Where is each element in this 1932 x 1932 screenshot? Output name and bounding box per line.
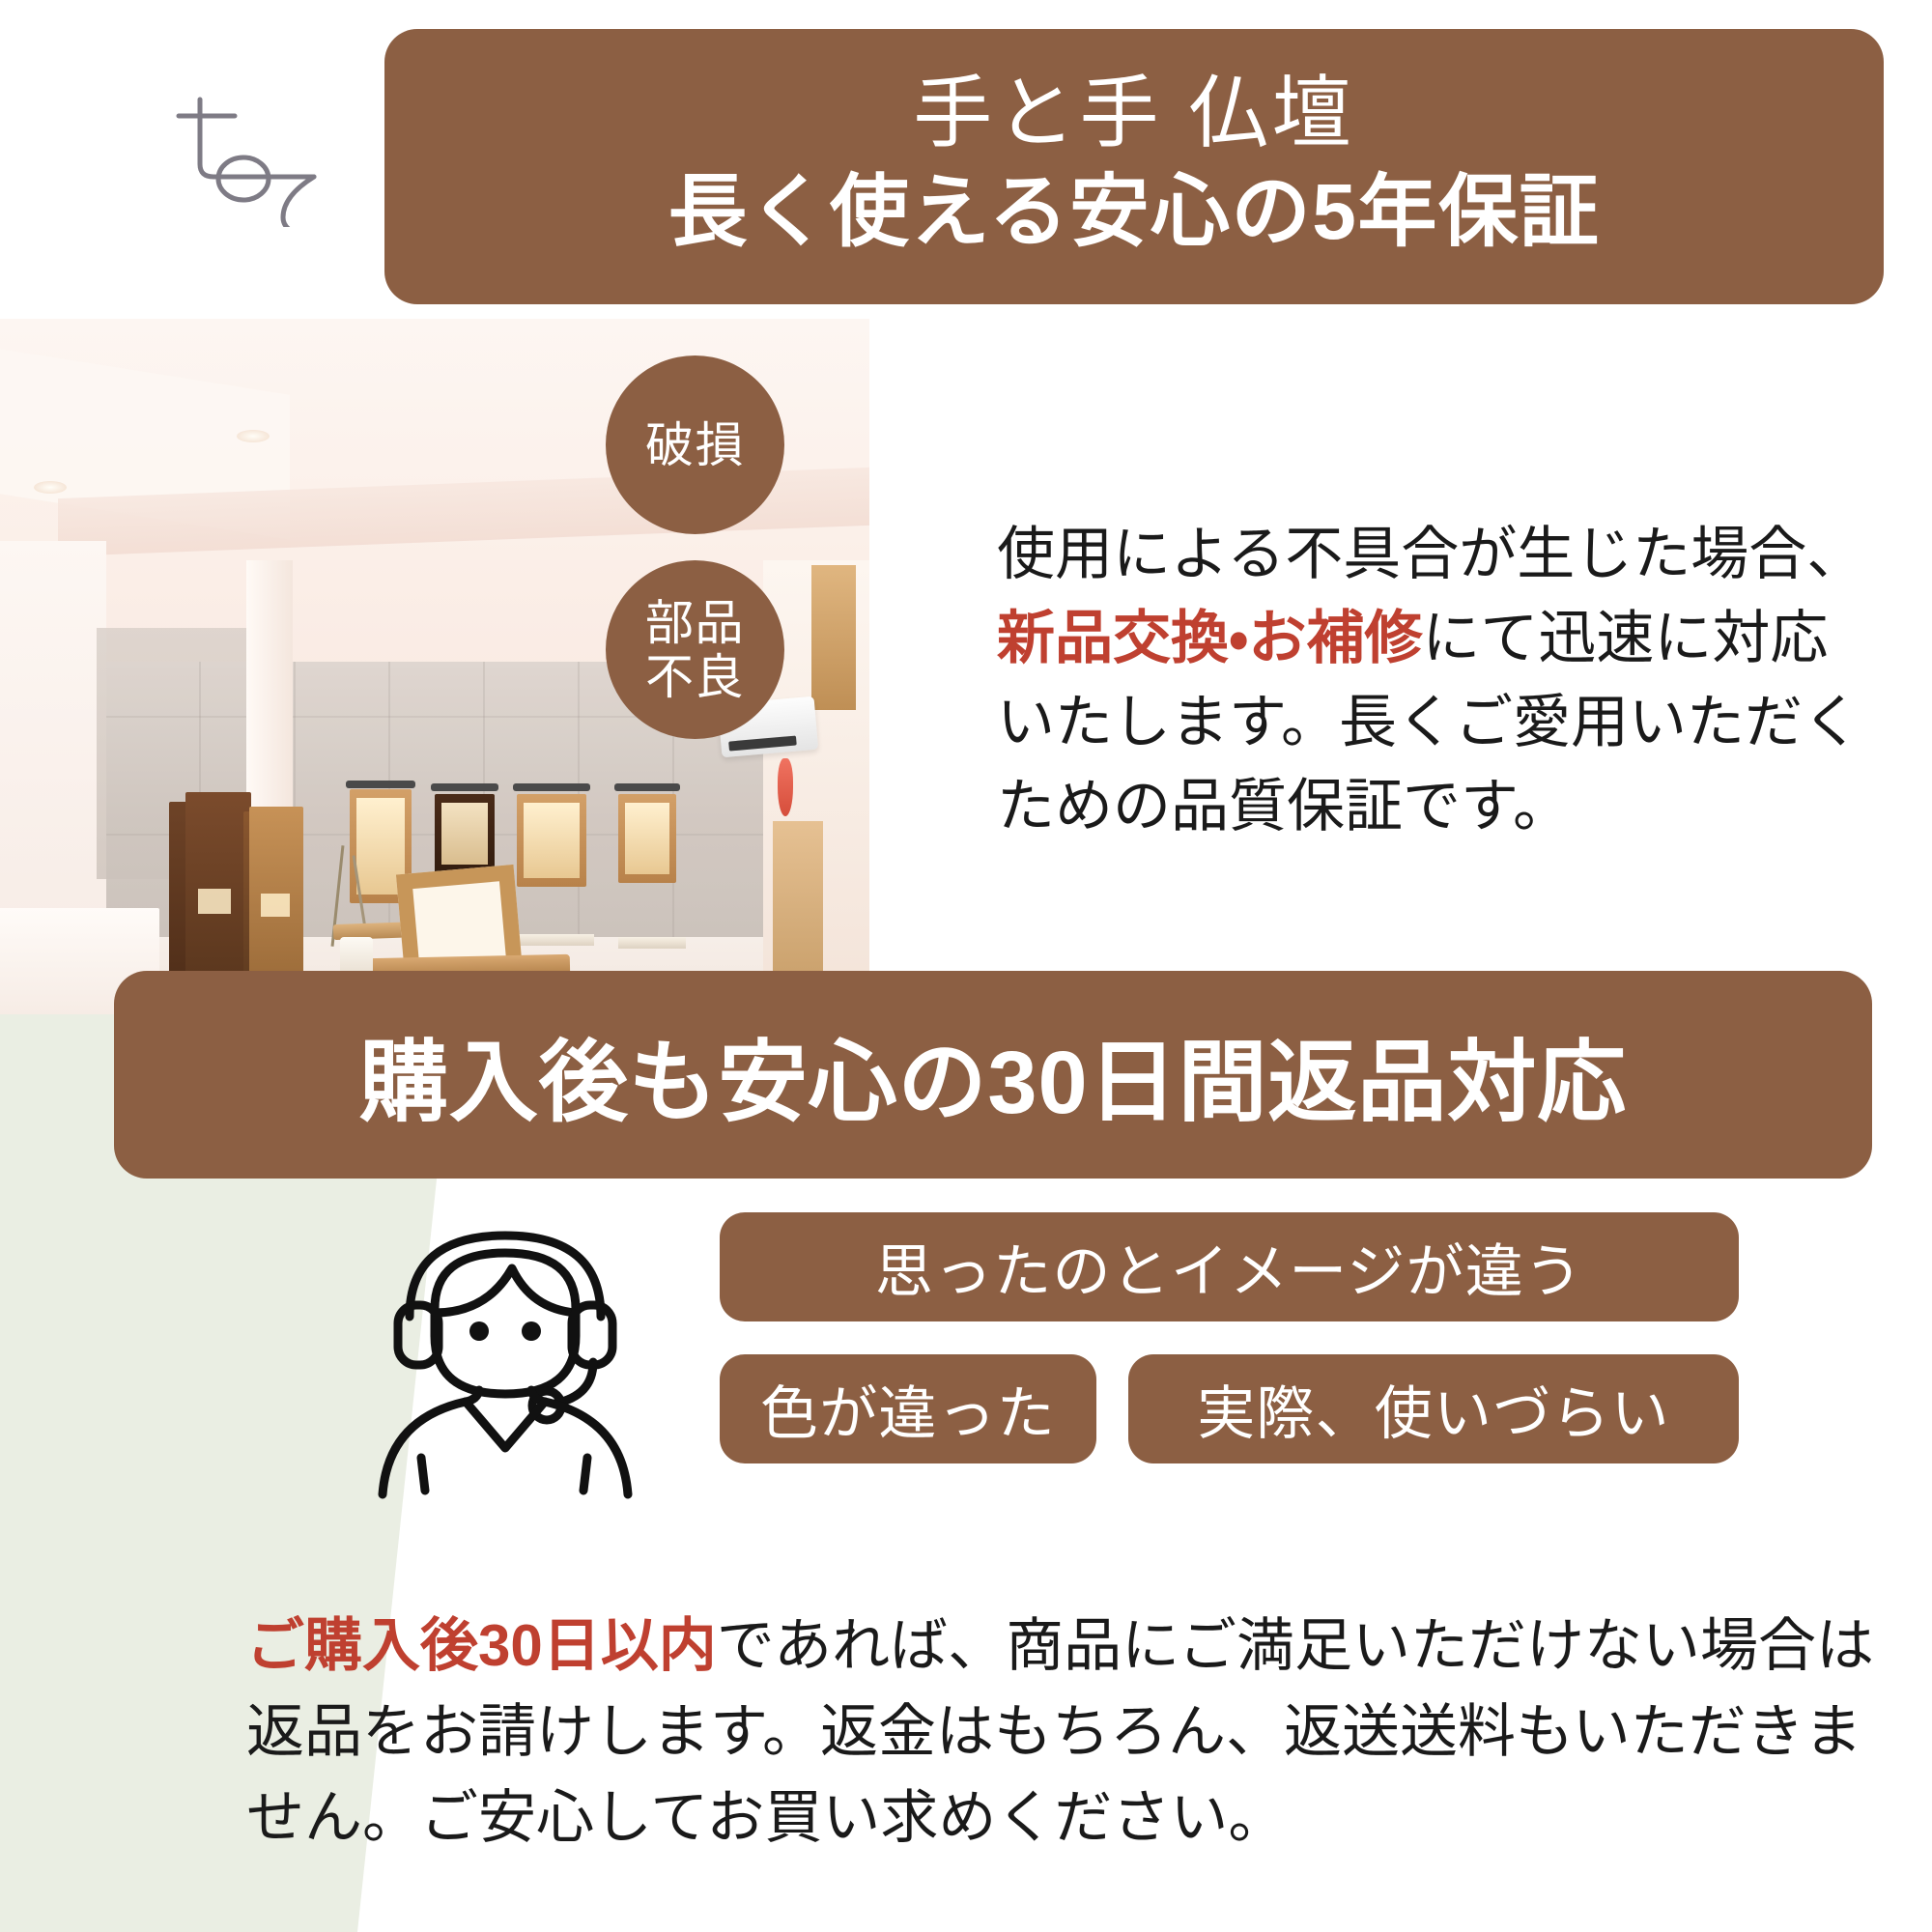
return-policy-description: ご購入後30日以内であれば、商品にご満足いただけない場合は返品をお請けします。返… bbox=[246, 1604, 1889, 1861]
promo-banner-canvas: 手と手 仏壇 長く使える安心の5年保証 破損 部品不良 使用による不具合が生じた… bbox=[0, 0, 1932, 1932]
altar-shelf bbox=[517, 934, 594, 946]
ceiling-spotlight bbox=[237, 430, 270, 442]
wall-altar bbox=[517, 794, 586, 887]
hero-banner: 手と手 仏壇 長く使える安心の5年保証 bbox=[384, 29, 1884, 304]
ceiling-spotlight bbox=[34, 481, 67, 494]
return-text-accent: ご購入後30日以内 bbox=[246, 1613, 717, 1678]
badge-hason: 破損 bbox=[606, 355, 784, 534]
warranty-text-accent: 新品交換・お補修 bbox=[997, 606, 1422, 670]
altar-shelf bbox=[618, 937, 686, 949]
return-policy-banner: 購入後も安心の30日間返品対応 bbox=[114, 971, 1872, 1179]
showroom-left-wall bbox=[0, 541, 106, 956]
altar-interior-light bbox=[198, 889, 231, 914]
warranty-description: 使用による不具合が生じた場合、新品交換・お補修にて迅速に対応いたします。長くご愛… bbox=[997, 512, 1881, 848]
altar-interior-light bbox=[261, 894, 290, 917]
hero-product-title: 手と手 仏壇 bbox=[913, 68, 1354, 161]
pill-image: 思ったのとイメージが違う bbox=[720, 1212, 1739, 1321]
warranty-text-part-1: 使用による不具合が生じた場合、 bbox=[997, 522, 1864, 586]
wall-altar bbox=[435, 794, 495, 873]
te-logo bbox=[169, 72, 382, 227]
badge-buhin-label: 部品不良 bbox=[645, 596, 745, 704]
altar-lamp bbox=[431, 783, 498, 791]
wall-altar bbox=[618, 794, 676, 883]
pill-color: 色が違った bbox=[720, 1354, 1096, 1463]
wooden-panel bbox=[811, 565, 856, 710]
hero-warranty-headline: 長く使える安心の5年保証 bbox=[668, 167, 1601, 258]
altar-lamp bbox=[346, 781, 415, 788]
red-decoration bbox=[778, 758, 793, 816]
badge-buhin: 部品不良 bbox=[606, 560, 784, 739]
pill-usability: 実際、使いづらい bbox=[1128, 1354, 1739, 1463]
return-policy-title: 購入後も安心の30日間返品対応 bbox=[359, 1010, 1627, 1139]
headset-operator-icon bbox=[365, 1212, 645, 1502]
altar-lamp bbox=[513, 783, 590, 791]
altar-lamp bbox=[614, 783, 680, 791]
